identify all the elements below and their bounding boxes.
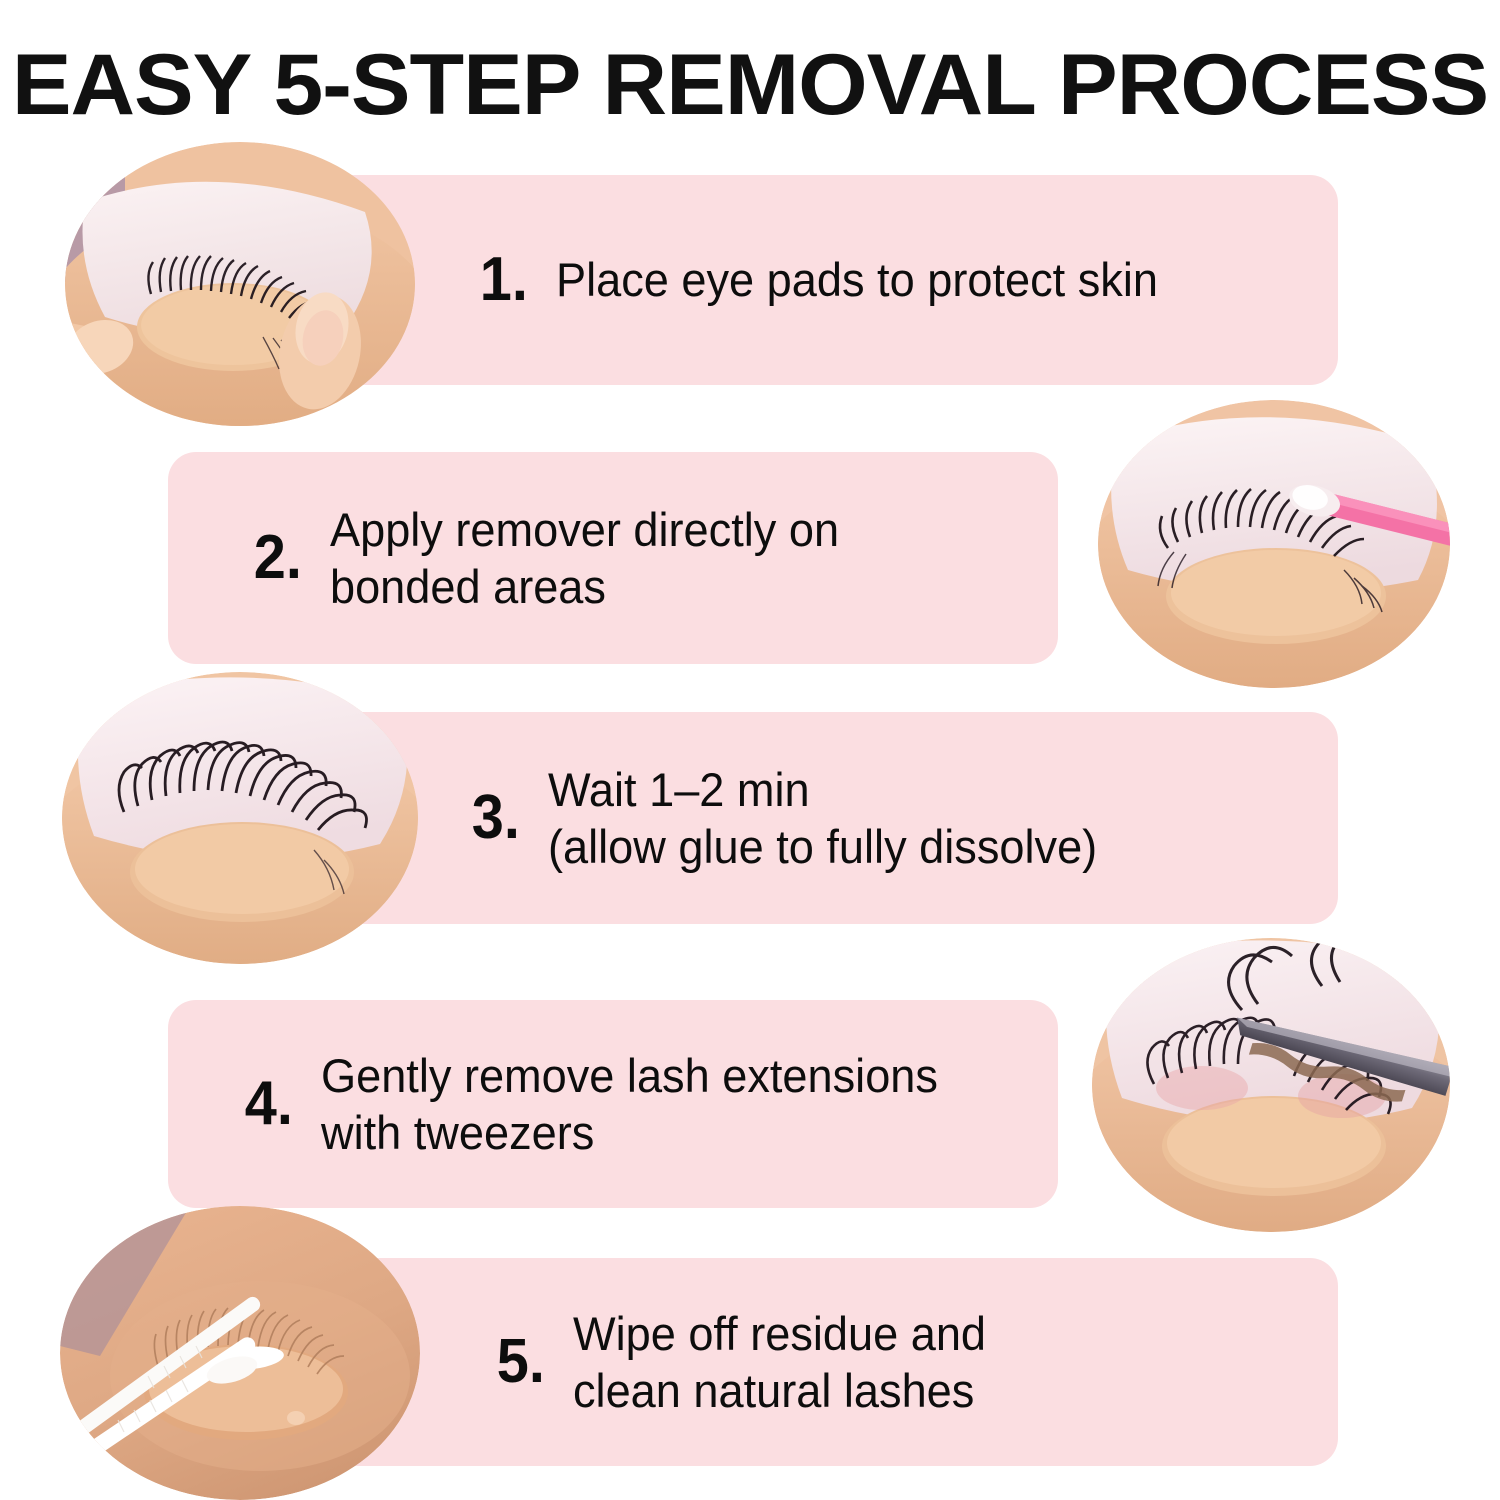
cleaning-lashes-photo [60,1206,420,1500]
step-text: Gently remove lash extensions with tweez… [321,1047,938,1162]
step-text: Wipe off residue and clean natural lashe… [573,1305,986,1420]
remover-application-photo [1098,400,1450,688]
step-text: Place eye pads to protect skin [556,251,1158,308]
step-number: 4. [245,1073,293,1135]
step-number: 2. [254,527,302,589]
step-text: Wait 1–2 min (allow glue to fully dissol… [548,761,1097,876]
tweezer-removal-photo [1092,938,1450,1232]
step-number: 5. [497,1331,545,1393]
step-number: 1. [480,249,528,311]
page-title: EASY 5-STEP REMOVAL PROCESS [0,36,1500,135]
step-content-5: 5. Wipe off residue and clean natural la… [495,1258,1315,1466]
eye-pad-placement-photo [65,142,415,427]
step-text: Apply remover directly on bonded areas [330,501,839,616]
step-content-2: 2. Apply remover directly on bonded area… [252,452,1042,664]
step-content-1: 1. Place eye pads to protect skin [478,175,1298,385]
step-number: 3. [472,787,520,849]
step-content-3: 3. Wait 1–2 min (allow glue to fully dis… [470,712,1320,924]
waiting-dissolve-photo [62,672,418,964]
step-content-4: 4. Gently remove lash extensions with tw… [243,1000,1043,1208]
